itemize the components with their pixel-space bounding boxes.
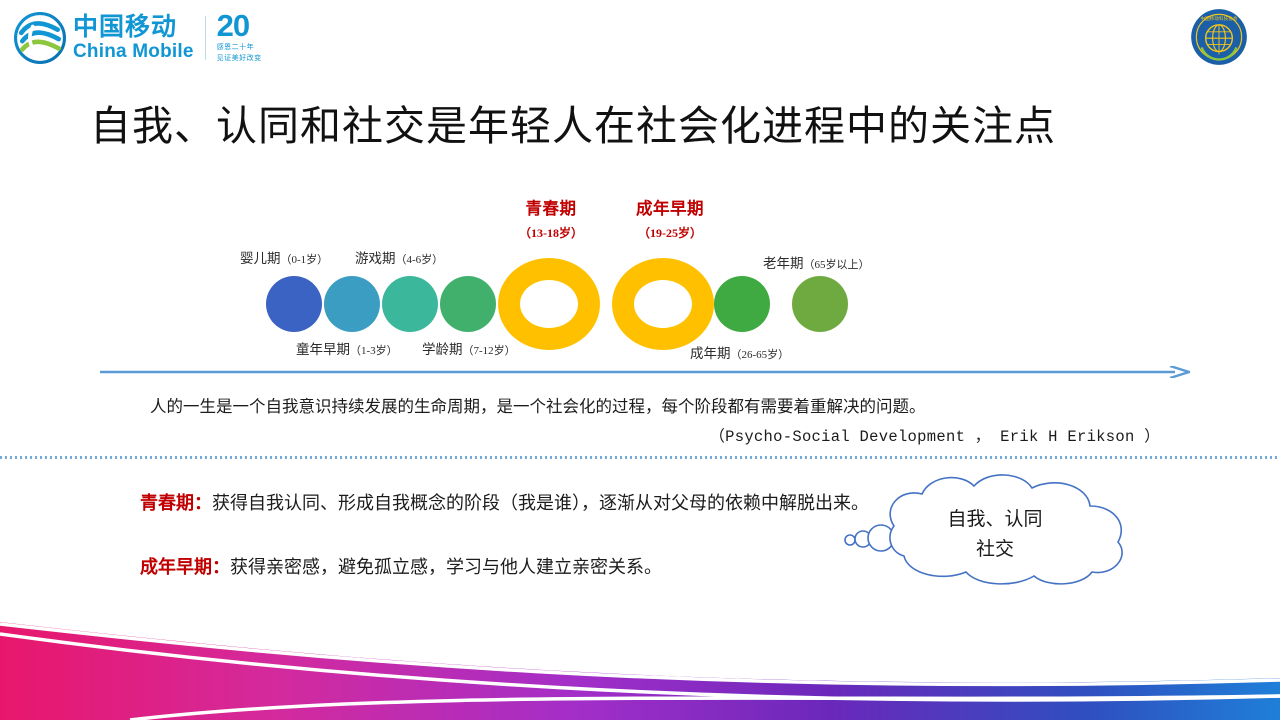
quote-source: （Psycho-Social Development ， Erik H Erik… xyxy=(150,422,1160,452)
stage-label-adulthood: 成年期（26-65岁） xyxy=(690,342,789,362)
stage-highlight-label-young-adult: 成年早期 （19-25岁） xyxy=(615,195,725,241)
stage-circle-early-childhood xyxy=(324,276,380,332)
description-text-adolescence: 获得自我认同、形成自我概念的阶段（我是谁），逐渐从对父母的依赖中解脱出来。 xyxy=(212,493,869,513)
stage-label-early-childhood: 童年早期（1-3岁） xyxy=(296,338,398,358)
stage-ring-adolescence xyxy=(498,258,600,350)
anniversary-slogan-line2: 见证美好改变 xyxy=(217,54,283,63)
stage-ring-young-adult xyxy=(612,258,714,350)
description-text-young-adult: 获得亲密感，避免孤立感，学习与他人建立亲密关系。 xyxy=(230,557,662,577)
china-mobile-mark-icon xyxy=(14,12,66,64)
stage-circle-adulthood xyxy=(714,276,770,332)
slide-canvas: 中国移动 China Mobile 20 感恩二十年 见证美好改变 中国移动科技… xyxy=(0,0,1280,720)
stage-highlight-label-adolescence: 青春期 （13-18岁） xyxy=(505,195,597,241)
logo-divider xyxy=(205,16,206,60)
thought-cloud-text: 自我、认同 社交 xyxy=(900,505,1090,565)
brand-name-cn: 中国移动 xyxy=(73,15,194,40)
china-mobile-logo: 中国移动 China Mobile 20 感恩二十年 见证美好改变 xyxy=(14,8,283,68)
footer-decoration xyxy=(0,600,1280,720)
life-stage-timeline: 青春期 （13-18岁） 成年早期 （19-25岁） 婴儿期（0-1岁） 游戏期… xyxy=(0,180,1280,390)
stage-label-old-age: 老年期（65岁以上） xyxy=(763,252,870,272)
stage-circle-infancy xyxy=(266,276,322,332)
institute-emblem-icon: 中国移动科技协会 xyxy=(1190,8,1248,66)
svg-text:中国移动科技协会: 中国移动科技协会 xyxy=(1200,15,1237,22)
page-title: 自我、认同和社交是年轻人在社会化进程中的关注点 xyxy=(90,92,1190,152)
stage-description-block: 青春期：获得自我认同、形成自我概念的阶段（我是谁），逐渐从对父母的依赖中解脱出来… xyxy=(140,482,880,596)
stage-circle-play-age xyxy=(382,276,438,332)
description-young-adult: 成年早期：获得亲密感，避免孤立感，学习与他人建立亲密关系。 xyxy=(140,546,880,588)
stage-label-infancy: 婴儿期（0-1岁） xyxy=(240,247,328,267)
description-adolescence: 青春期：获得自我认同、形成自我概念的阶段（我是谁），逐渐从对父母的依赖中解脱出来… xyxy=(140,482,880,524)
brand-name-en: China Mobile xyxy=(73,42,194,61)
anniversary-number: 20 xyxy=(217,10,283,41)
stage-circle-old-age xyxy=(792,276,848,332)
stage-label-play-age: 游戏期（4-6岁） xyxy=(355,247,443,267)
timeline-axis-arrow xyxy=(100,366,1190,378)
description-keyword-adolescence: 青春期： xyxy=(140,493,212,513)
anniversary-badge: 20 感恩二十年 见证美好改变 xyxy=(217,10,283,66)
thought-cloud-line2: 社交 xyxy=(900,535,1090,565)
stage-circle-school-age xyxy=(440,276,496,332)
section-divider xyxy=(0,456,1280,459)
quote-line: 人的一生是一个自我意识持续发展的生命周期，是一个社会化的过程，每个阶段都有需要着… xyxy=(150,397,926,416)
stage-label-school-age: 学龄期（7-12岁） xyxy=(422,338,516,358)
thought-cloud-line1: 自我、认同 xyxy=(900,505,1090,535)
anniversary-slogan-line1: 感恩二十年 xyxy=(217,43,283,52)
description-keyword-young-adult: 成年早期： xyxy=(140,557,230,577)
erikson-quote: 人的一生是一个自我意识持续发展的生命周期，是一个社会化的过程，每个阶段都有需要着… xyxy=(150,392,1160,452)
